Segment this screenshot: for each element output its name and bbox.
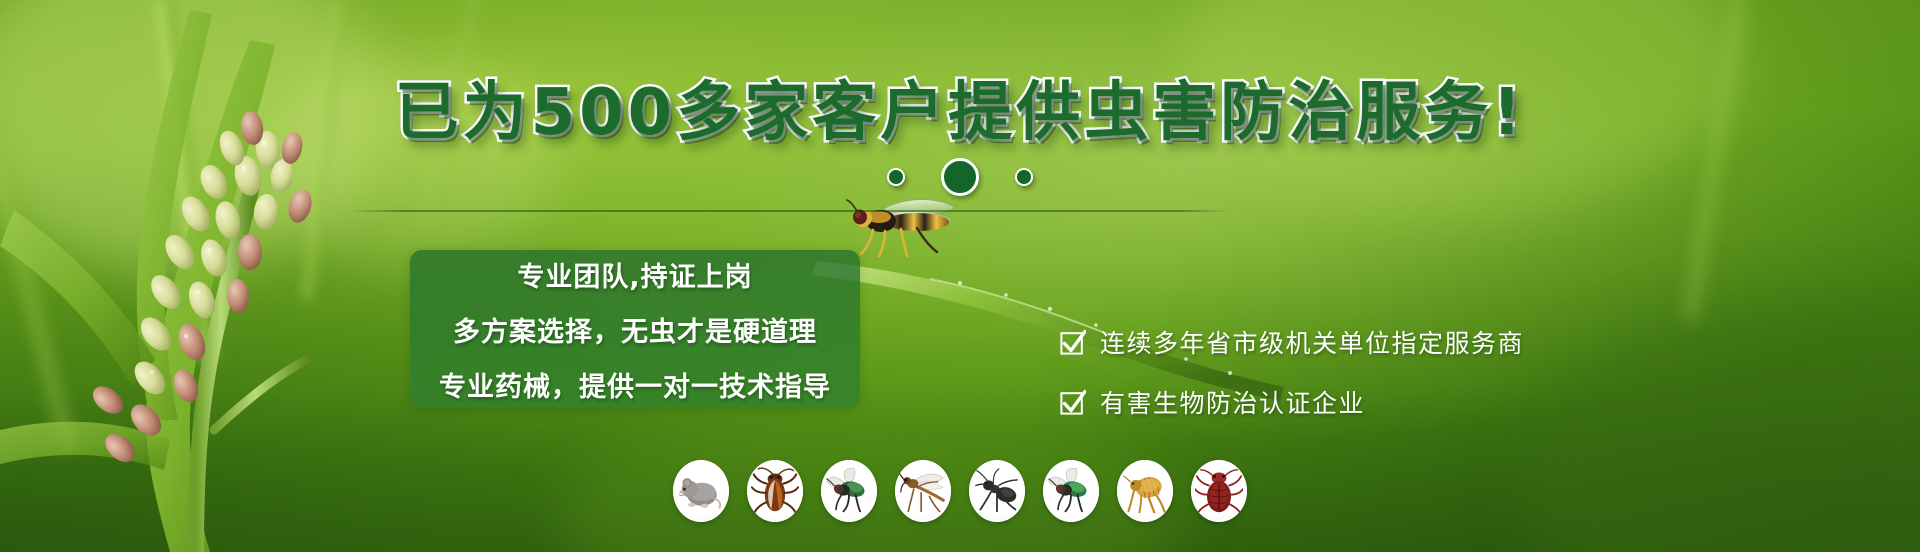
dot-small-left xyxy=(887,168,905,186)
ant-icon xyxy=(969,460,1025,522)
selling-points-panel xyxy=(410,250,860,408)
decorative-hairline xyxy=(350,210,1230,212)
flea-icon xyxy=(1117,460,1173,522)
dot-large-center xyxy=(941,158,979,196)
check-square-icon xyxy=(1060,329,1086,355)
decorative-dot-row xyxy=(0,158,1920,196)
hoverfly-image xyxy=(845,196,965,258)
list-item: 有害生物防治认证企业 xyxy=(1060,384,1524,420)
credentials-list: 连续多年省市级机关单位指定服务商 有害生物防治认证企业 xyxy=(1060,324,1524,420)
list-item: 连续多年省市级机关单位指定服务商 xyxy=(1060,324,1524,360)
headline-text: 已为500多家客户提供虫害防治服务! xyxy=(395,76,1526,150)
check-square-icon xyxy=(1060,389,1086,415)
page-title: 已为500多家客户提供虫害防治服务! xyxy=(0,78,1920,148)
promo-banner: 已为500多家客户提供虫害防治服务! 专业团队,持证上岗 多方案选择，无虫才是硬… xyxy=(0,0,1920,552)
mouse-icon xyxy=(673,460,729,522)
mosquito-icon xyxy=(895,460,951,522)
pest-icon-row xyxy=(0,460,1920,522)
bedbug-icon xyxy=(1191,460,1247,522)
fly-icon xyxy=(821,460,877,522)
cockroach-icon xyxy=(747,460,803,522)
list-item-label: 有害生物防治认证企业 xyxy=(1100,384,1365,420)
list-item-label: 连续多年省市级机关单位指定服务商 xyxy=(1100,324,1524,360)
dot-small-right xyxy=(1015,168,1033,186)
fly-green-icon xyxy=(1043,460,1099,522)
